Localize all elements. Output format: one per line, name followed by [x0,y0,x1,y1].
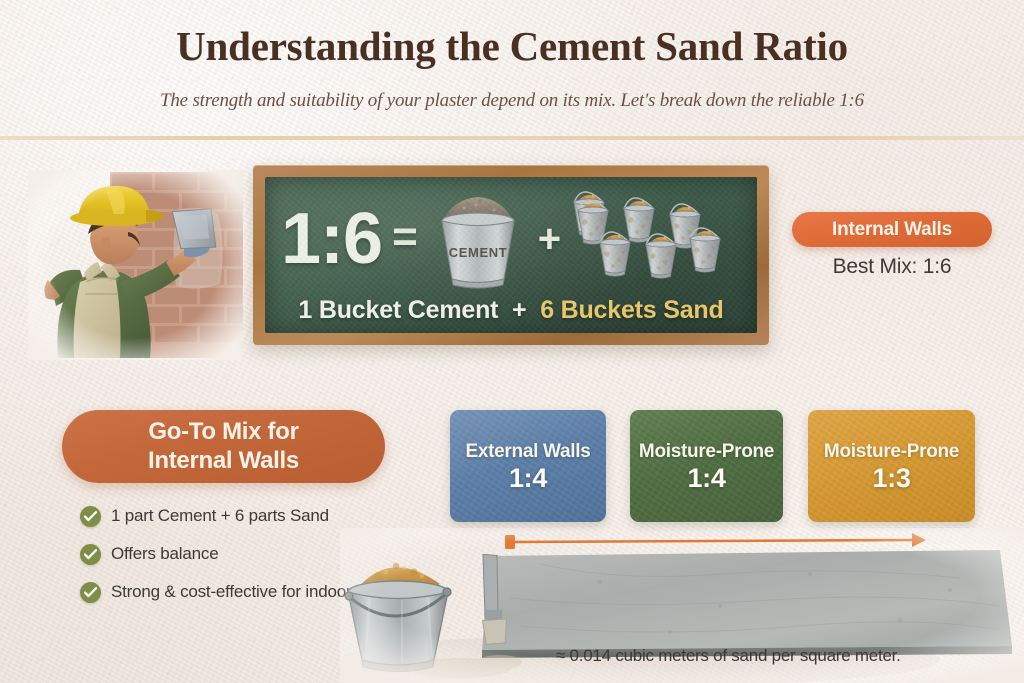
chalkboard-surface: 1:6 = [265,177,757,333]
infographic-canvas: Understanding the Cement Sand Ratio The … [0,0,1024,683]
goto-mix-line1: Go-To Mix for [148,418,298,446]
chalkboard-caption: 1 Bucket Cement + 6 Buckets Sand [265,296,757,325]
list-item: 1 part Cement + 6 parts Sand [80,505,410,527]
sand-buckets-group [571,184,743,294]
ratio-card-label: Moisture-Prone [639,441,774,463]
ratio-card-value: 1:3 [872,464,910,494]
plus-sign: + [538,219,561,259]
ratio-card-value: 1:4 [687,464,725,494]
caption-cement: 1 Bucket Cement [298,296,498,324]
caption-sand: 6 Buckets Sand [540,296,723,324]
cement-bucket-label: CEMENT [449,245,508,260]
list-item-label: 1 part Cement + 6 parts Sand [111,505,329,527]
ratio-card-label: External Walls [466,441,591,463]
ratio-card-external-walls: External Walls 1:4 [450,410,606,522]
caption-plus: + [512,296,526,324]
internal-walls-badge-label: Internal Walls [832,219,952,241]
goto-mix-pill: Go-To Mix for Internal Walls [62,410,385,483]
header-divider [0,136,1024,140]
footer-caption: ≈ 0.014 cubic meters of sand per square … [556,646,901,666]
equals-sign: = [392,215,418,259]
ratio-card-label: Moisture-Prone [824,441,959,463]
worker-illustration [28,170,243,360]
ratio-card-value: 1:4 [509,464,547,494]
ratio-value: 1:6 [281,203,382,275]
list-item-label: Strong & cost-effective for indoors [111,581,360,603]
cement-bucket-icon: CEMENT [428,183,528,296]
goto-mix-line2: Internal Walls [148,447,299,475]
internal-walls-badge: Internal Walls [792,212,992,247]
chalkboard-frame: 1:6 = [253,165,769,345]
check-circle-icon [80,506,101,527]
page-subtitle: The strength and suitability of your pla… [0,90,1024,112]
ratio-equation: 1:6 = [281,185,743,293]
best-mix-text: Best Mix: 1:6 [792,255,992,279]
list-item-label: Offers balance [111,543,218,565]
ratio-card-moisture-prone-green: Moisture-Prone 1:4 [630,410,783,522]
ratio-card-moisture-prone-amber: Moisture-Prone 1:3 [808,410,975,522]
check-circle-icon [80,582,101,603]
page-title: Understanding the Cement Sand Ratio [0,22,1024,70]
check-circle-icon [80,544,101,565]
